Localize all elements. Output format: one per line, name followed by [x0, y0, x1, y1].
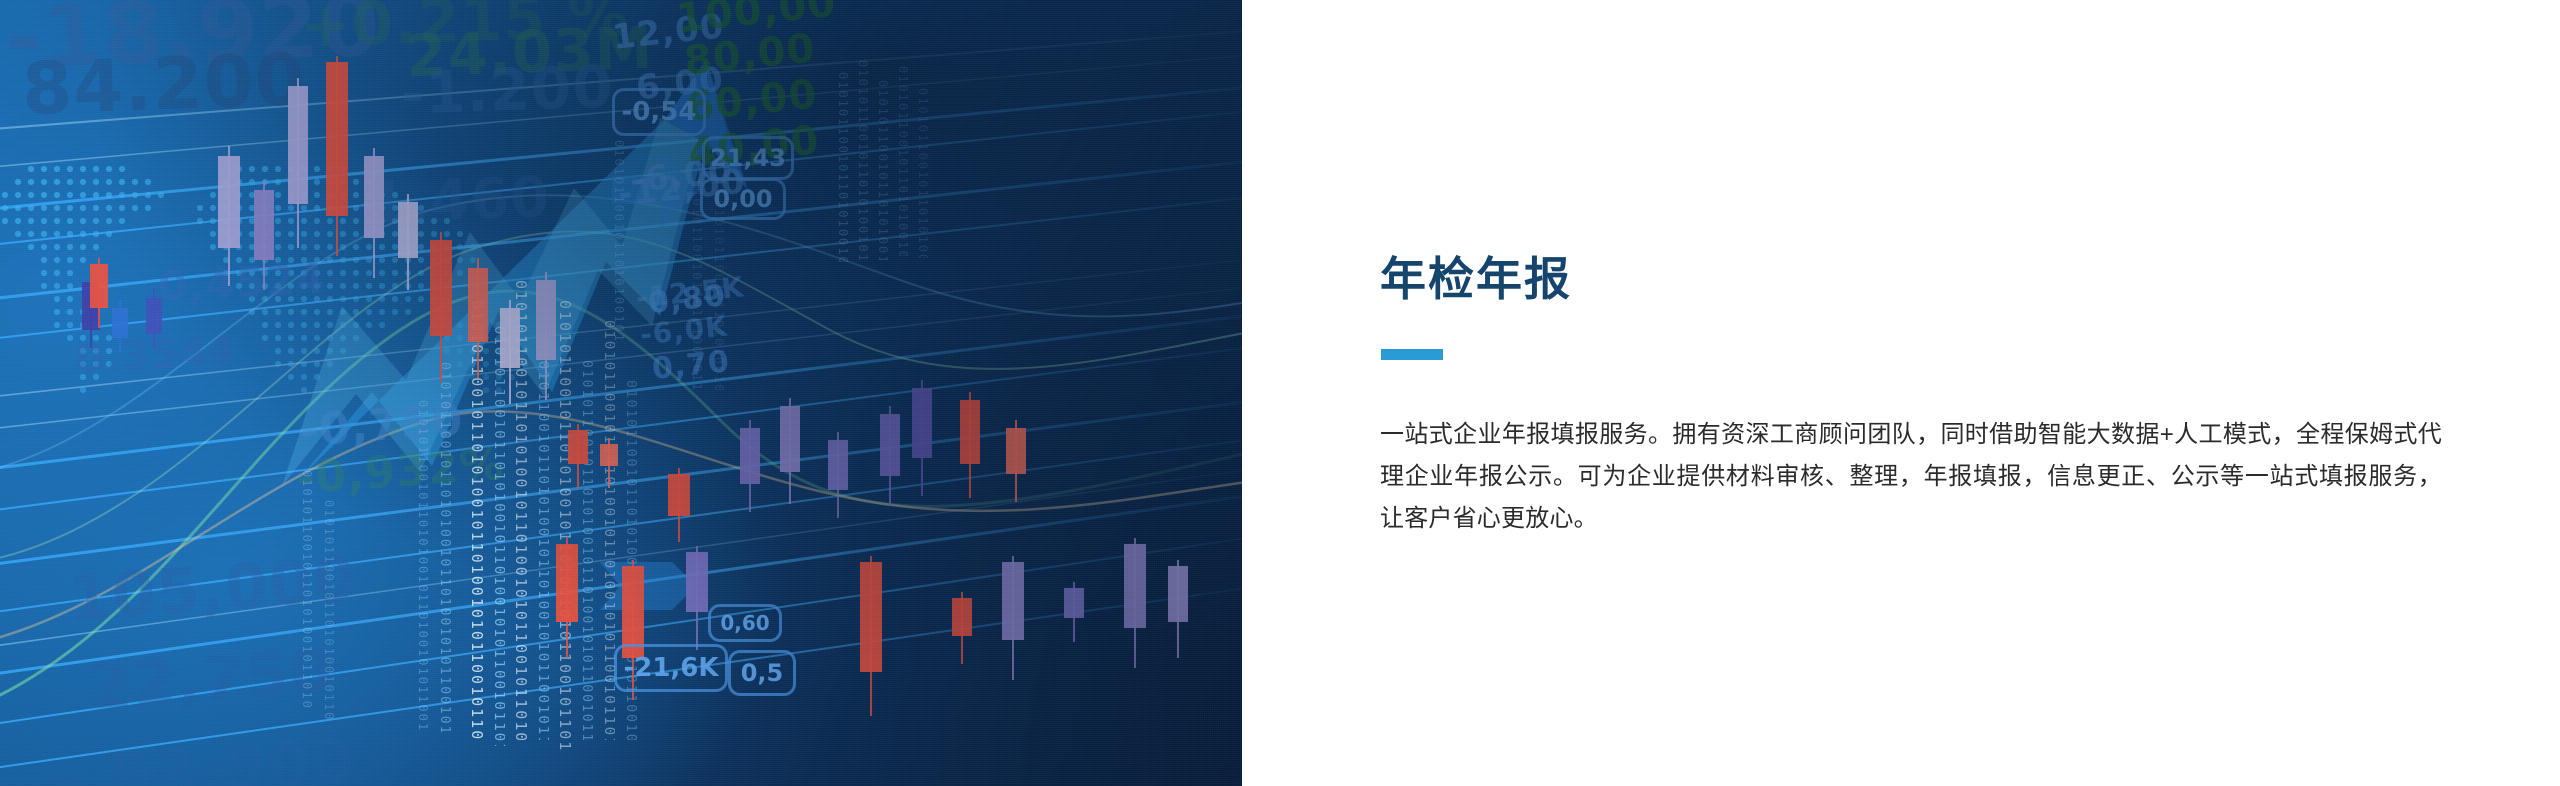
content-panel: 年检年报 一站式企业年报填报服务。拥有资深工商顾问团队，同时借助智能大数据+人工… [1242, 0, 2560, 786]
hero-vignette-overlay [0, 0, 1242, 786]
promo-banner: -18.920+0.215 %84.20024.03M-1.2001.4600,… [0, 0, 2560, 786]
hero-image-panel: -18.920+0.215 %84.20024.03M-1.2001.4600,… [0, 0, 1242, 786]
content-inner: 年检年报 一站式企业年报填报服务。拥有资深工商顾问团队，同时借助智能大数据+人工… [1380, 0, 2440, 786]
page-title: 年检年报 [1380, 256, 1572, 302]
service-description: 一站式企业年报填报服务。拥有资深工商顾问团队，同时借助智能大数据+人工模式，全程… [1380, 414, 2442, 540]
title-accent-bar [1381, 349, 1443, 360]
